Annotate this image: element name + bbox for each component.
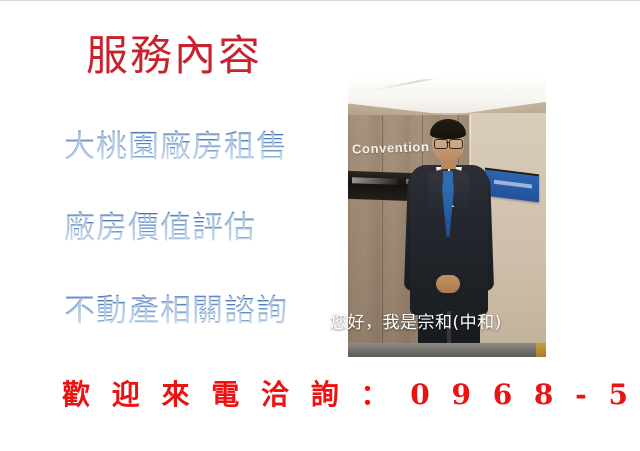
service-item-1: 大桃園廠房租售 xyxy=(64,130,288,164)
floor-edge-accent xyxy=(536,343,546,357)
glasses-icon xyxy=(449,139,463,149)
floor-strip xyxy=(348,343,546,357)
slide-canvas: 服務內容 大桃園廠房租售 廠房價值評估 不動產相關諮詢 Convention C… xyxy=(0,0,640,451)
glasses-bridge xyxy=(446,142,450,143)
photo-caption: 您好，我是宗和(中和) xyxy=(330,308,502,333)
service-item-3: 不動產相關諮詢 xyxy=(64,294,288,328)
contact-phone-line: 歡 迎 來 電 洽 詢 ： 0 9 6 8 - 5 1 9 - 8 8 8 xyxy=(62,373,640,413)
hair xyxy=(430,119,466,139)
glasses-icon xyxy=(434,139,448,149)
clasped-hands xyxy=(436,275,460,293)
service-item-2: 廠房價值評估 xyxy=(64,211,256,245)
page-title: 服務內容 xyxy=(86,34,262,78)
